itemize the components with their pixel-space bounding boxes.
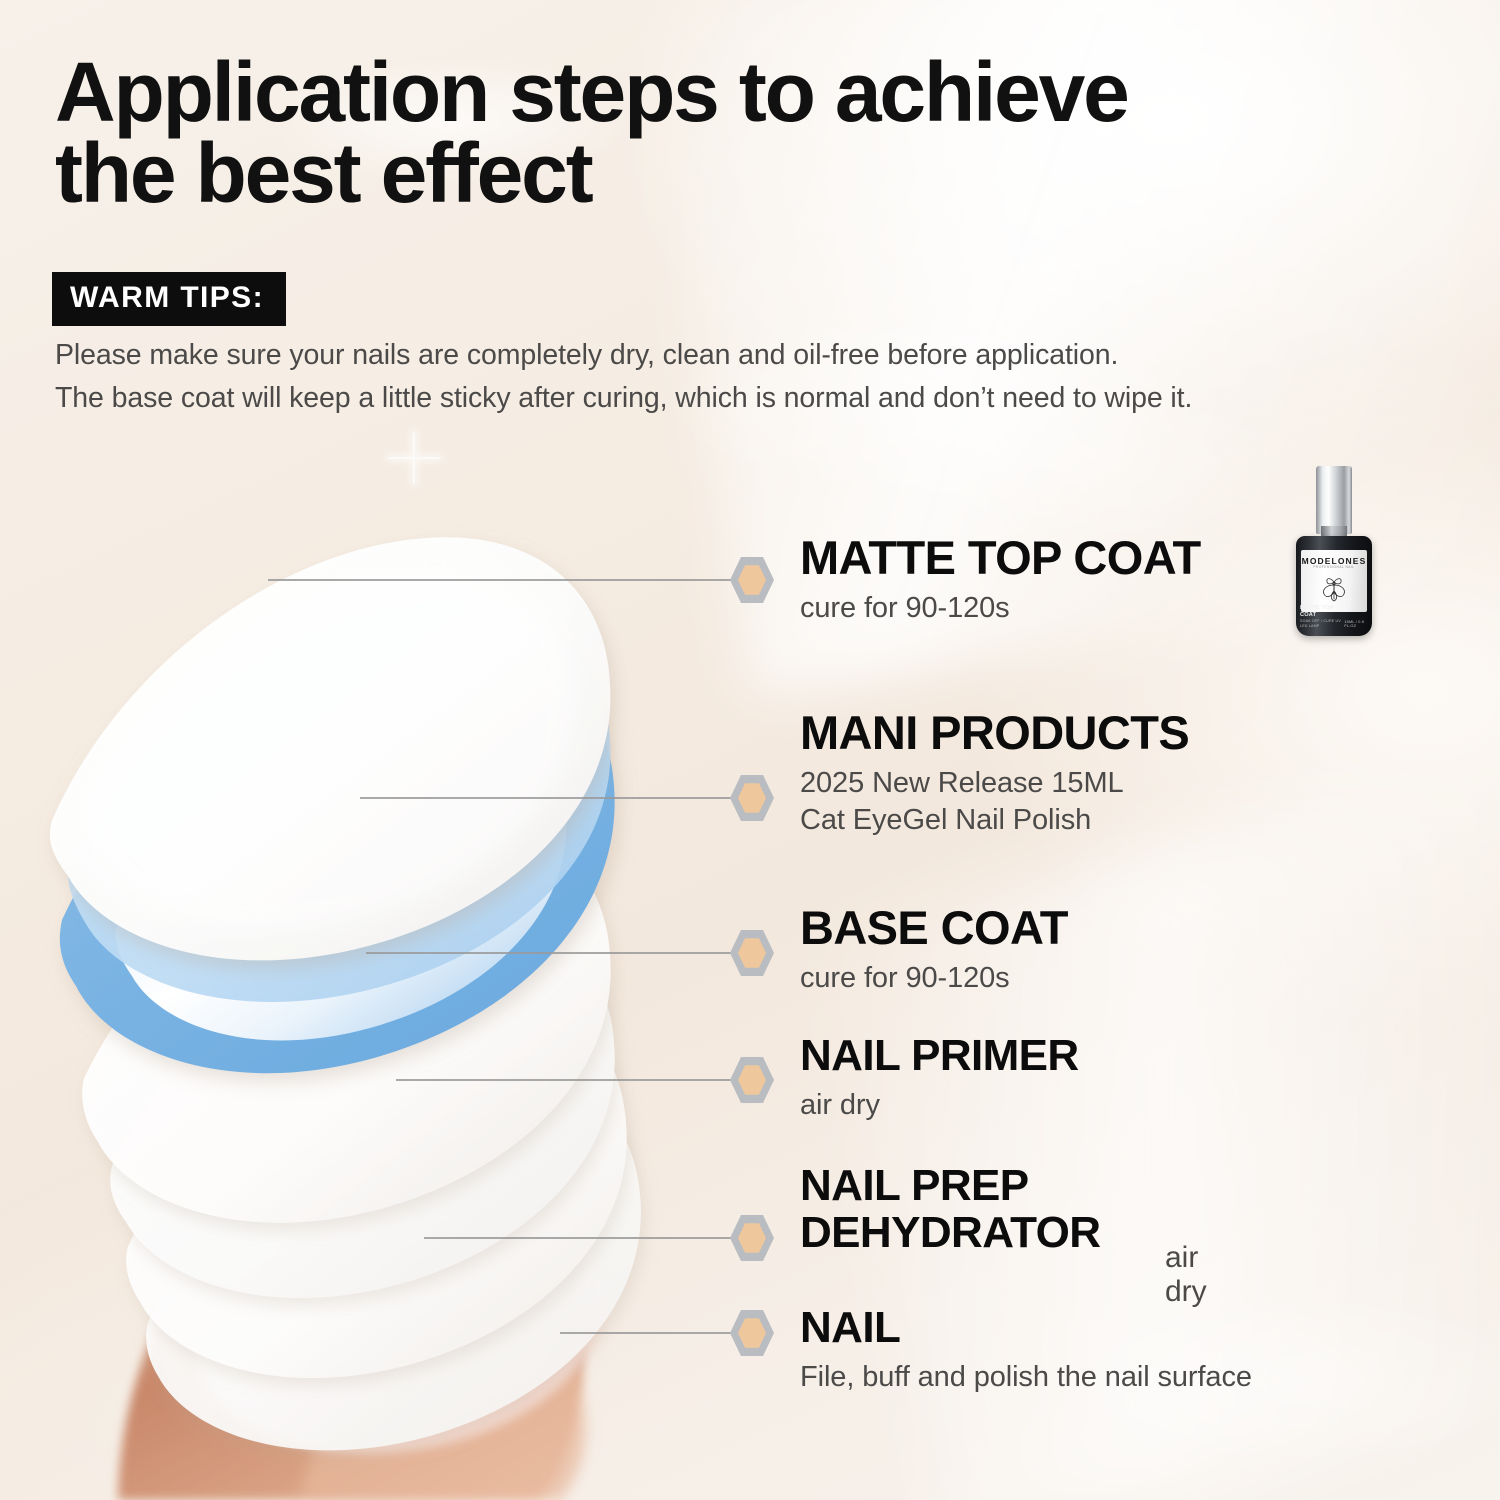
leader-line-base-coat	[366, 952, 736, 954]
hex-inner	[738, 564, 766, 596]
callout-title: BASE COAT	[800, 903, 1068, 953]
leader-line-matte-top-coat	[268, 579, 736, 581]
bottle-product-title: MATTE TOP COAT	[1300, 605, 1334, 618]
callout-subtitle: File, buff and polish the nail surface	[800, 1359, 1252, 1396]
bottle-body: MODELONES PROFESSIONAL NAIL	[1296, 536, 1372, 636]
bottle-product-sub: SOAK OFF / CURE UV LED LAMP	[1300, 619, 1344, 628]
warm-tips-badge: WARM TIPS:	[52, 272, 286, 326]
hex-inner	[738, 1064, 766, 1096]
callout-mani-products: MANI PRODUCTS 2025 New Release 15ML Cat …	[800, 708, 1189, 839]
hex-inner	[738, 937, 766, 969]
product-bottle: MODELONES PROFESSIONAL NAIL	[1288, 466, 1380, 638]
hex-inner	[738, 1222, 766, 1254]
page-title: Application steps to achieve the best ef…	[55, 52, 1455, 215]
bottle-brand-tagline: PROFESSIONAL NAIL	[1301, 565, 1367, 569]
callout-title: MATTE TOP COAT	[800, 533, 1201, 583]
hex-inner	[738, 1317, 766, 1349]
callout-subtitle: cure for 90-120s	[800, 590, 1201, 627]
bottle-label: MODELONES PROFESSIONAL NAIL	[1301, 550, 1367, 612]
bottle-product-name: MATTE TOP COAT SOAK OFF / CURE UV LED LA…	[1300, 605, 1344, 628]
infographic-canvas: Application steps to achieve the best ef…	[0, 0, 1500, 1500]
bottle-volume: 15ML / 0.5 FL.OZ	[1344, 620, 1368, 628]
callout-inline-note: air dry	[1165, 1241, 1207, 1309]
callout-nail: NAIL File, buff and polish the nail surf…	[800, 1305, 1252, 1396]
callout-title: NAIL PREP DEHYDRATOR	[800, 1161, 1100, 1257]
callout-subtitle: 2025 New Release 15ML Cat EyeGel Nail Po…	[800, 765, 1189, 839]
bottle-cap	[1316, 466, 1352, 534]
leader-line-nail-prep-dehydrator	[424, 1237, 736, 1239]
callout-nail-primer: NAIL PRIMER air dry	[800, 1033, 1079, 1124]
hex-inner	[738, 782, 766, 814]
callout-title: MANI PRODUCTS	[800, 708, 1189, 758]
callout-nail-prep-dehydrator: NAIL PREP DEHYDRATORair dry	[800, 1163, 1100, 1256]
callout-matte-top-coat: MATTE TOP COAT cure for 90-120s	[800, 533, 1201, 627]
leader-line-mani-products	[360, 797, 736, 799]
callout-subtitle: cure for 90-120s	[800, 960, 1068, 997]
sparkle-icon	[1035, 250, 1065, 280]
leader-line-nail	[560, 1332, 736, 1334]
callout-subtitle: air dry	[800, 1087, 1079, 1124]
moth-logo-icon	[1319, 574, 1349, 609]
leader-line-nail-primer	[396, 1079, 736, 1081]
callout-base-coat: BASE COAT cure for 90-120s	[800, 903, 1068, 997]
bottle-footer: MATTE TOP COAT SOAK OFF / CURE UV LED LA…	[1300, 605, 1368, 628]
callout-title: NAIL PRIMER	[800, 1033, 1079, 1080]
callout-title: NAIL	[800, 1305, 1252, 1352]
